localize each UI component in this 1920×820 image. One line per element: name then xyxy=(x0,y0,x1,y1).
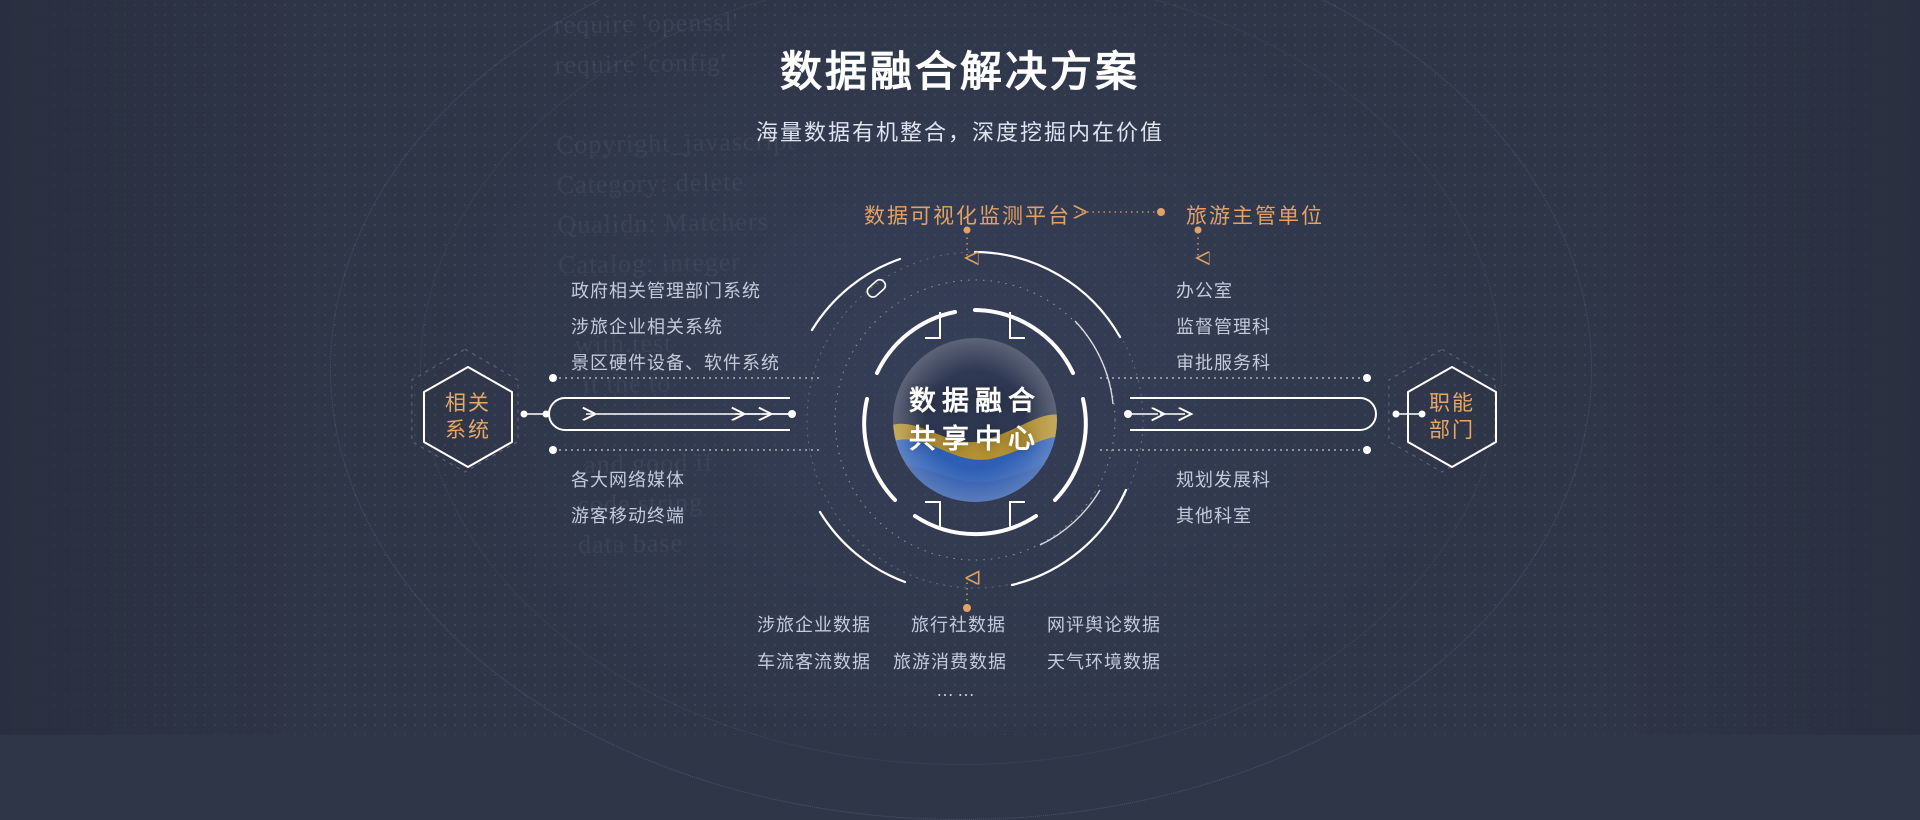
hexagon-right-label: 职能 部门 xyxy=(1422,390,1482,444)
bottom-row1-item-2: 旅行社数据 xyxy=(911,611,1006,637)
bottom-row2-item-1: 车流客流数据 xyxy=(757,648,871,674)
bottom-row2-item-3: 天气环境数据 xyxy=(1047,648,1161,674)
right-upper-item-3: 审批服务科 xyxy=(1176,349,1271,375)
right-upper-item-2: 监督管理科 xyxy=(1176,313,1271,339)
hexagon-right-label-line2: 部门 xyxy=(1422,417,1482,444)
hexagon-right-label-line1: 职能 xyxy=(1422,390,1482,417)
left-lower-item-2: 游客移动终端 xyxy=(571,502,685,528)
right-lower-item-2: 其他科室 xyxy=(1176,502,1252,528)
core-hub-label: 数据融合 共享中心 xyxy=(875,382,1075,458)
core-hub-line2: 共享中心 xyxy=(875,420,1075,458)
header: 数据融合解决方案 海量数据有机整合，深度挖掘内在价值 xyxy=(0,0,1920,147)
bottom-ellipsis: …… xyxy=(936,680,978,701)
right-connector-bus xyxy=(1100,374,1426,454)
bottom-row1-item-3: 网评舆论数据 xyxy=(1047,611,1161,637)
page-subtitle: 海量数据有机整合，深度挖掘内在价值 xyxy=(0,99,1920,147)
left-upper-item-2: 涉旅企业相关系统 xyxy=(571,313,723,339)
hexagon-left-label: 相关 系统 xyxy=(438,390,498,444)
page-title: 数据融合解决方案 xyxy=(0,0,1920,99)
left-upper-item-1: 政府相关管理部门系统 xyxy=(571,277,761,303)
left-connector-bus xyxy=(521,374,821,454)
label-tourism-authority[interactable]: 旅游主管单位 xyxy=(1186,200,1324,230)
bottom-row1-item-1: 涉旅企业数据 xyxy=(757,611,871,637)
left-lower-item-1: 各大网络媒体 xyxy=(571,466,685,492)
bottom-row2-item-2: 旅游消费数据 xyxy=(893,648,1007,674)
left-upper-item-3: 景区硬件设备、软件系统 xyxy=(571,349,780,375)
hexagon-left-label-line1: 相关 xyxy=(438,390,498,417)
right-lower-item-1: 规划发展科 xyxy=(1176,466,1271,492)
label-visualization-platform[interactable]: 数据可视化监测平台 xyxy=(864,200,1071,230)
hexagon-left-label-line2: 系统 xyxy=(438,417,498,444)
core-hub-line1: 数据融合 xyxy=(875,382,1075,420)
right-upper-item-1: 办公室 xyxy=(1176,277,1233,303)
